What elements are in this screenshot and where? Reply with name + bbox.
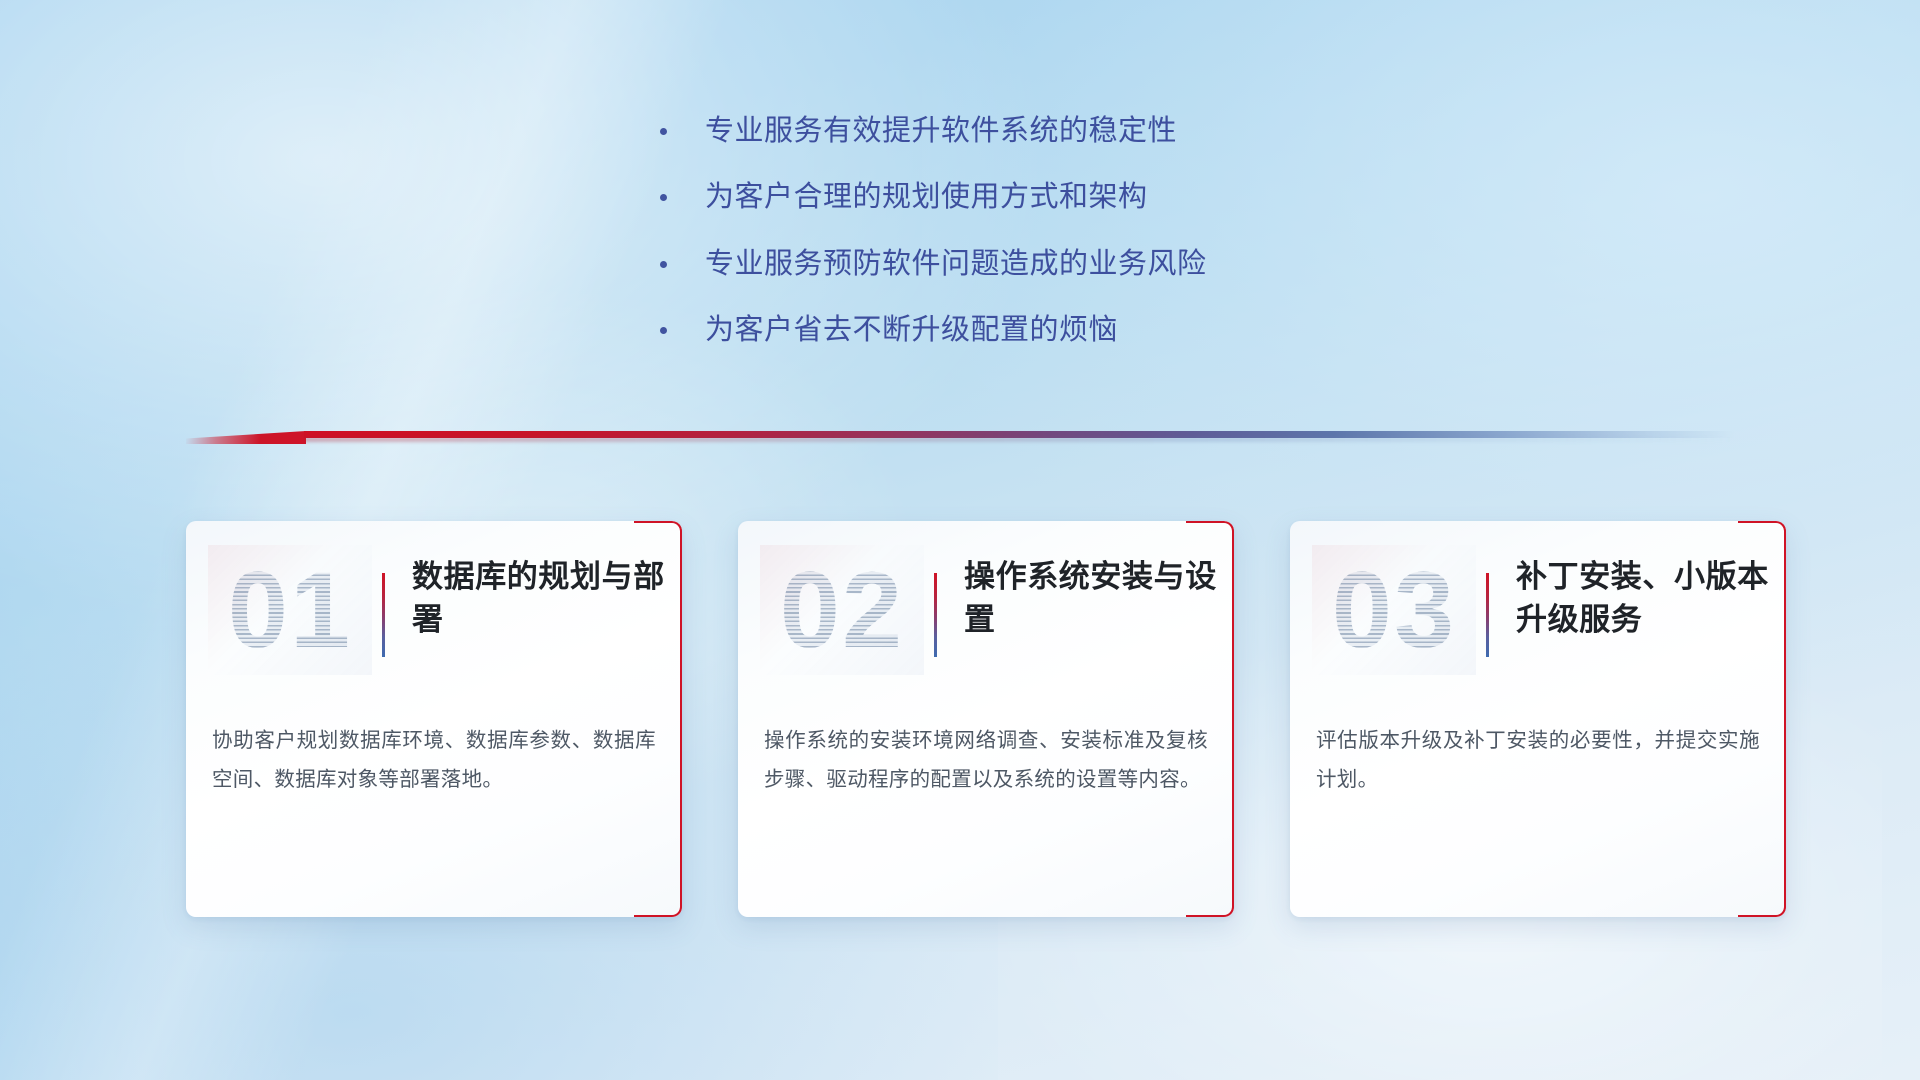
bullet-text: 为客户合理的规划使用方式和架构 <box>705 178 1148 216</box>
bullet-dot-icon <box>660 128 667 135</box>
section-divider <box>186 431 1734 444</box>
bullet-item: 为客户合理的规划使用方式和架构 <box>660 178 1207 216</box>
bullet-text: 为客户省去不断升级配置的烦恼 <box>705 311 1118 349</box>
divider-red-tip <box>186 431 306 444</box>
card-title-divider-rule <box>934 573 937 657</box>
service-card[interactable]: 02 02 操作系统安装与设置 操作系统的安装环境网络调查、安装标准及复核步骤、… <box>738 521 1234 917</box>
service-card[interactable]: 01 01 数据库的规划与部署 协助客户规划数据库环境、数据库参数、数据库空间、… <box>186 521 682 917</box>
card-title: 数据库的规划与部署 <box>412 555 668 642</box>
card-title-divider-rule <box>382 573 385 657</box>
service-card-list: 01 01 数据库的规划与部署 协助客户规划数据库环境、数据库参数、数据库空间、… <box>186 521 1786 917</box>
bullet-item: 为客户省去不断升级配置的烦恼 <box>660 311 1207 349</box>
card-body-text: 操作系统的安装环境网络调查、安装标准及复核步骤、驱动程序的配置以及系统的设置等内… <box>764 721 1208 800</box>
card-number-watermark: 03 <box>1312 545 1476 675</box>
bullet-dot-icon <box>660 194 667 201</box>
card-number-watermark: 02 <box>760 545 924 675</box>
divider-glow <box>304 437 1734 442</box>
service-card[interactable]: 03 03 补丁安装、小版本升级服务 评估版本升级及补丁安装的必要性，并提交实施… <box>1290 521 1786 917</box>
bullet-dot-icon <box>660 261 667 268</box>
benefits-bullet-list: 专业服务有效提升软件系统的稳定性 为客户合理的规划使用方式和架构 专业服务预防软… <box>660 112 1207 377</box>
bullet-item: 专业服务有效提升软件系统的稳定性 <box>660 112 1207 150</box>
card-header: 02 02 操作系统安装与设置 <box>738 521 1234 711</box>
bullet-text: 专业服务有效提升软件系统的稳定性 <box>705 112 1177 150</box>
card-title: 操作系统安装与设置 <box>964 555 1220 642</box>
bullet-dot-icon <box>660 327 667 334</box>
card-header: 01 01 数据库的规划与部署 <box>186 521 682 711</box>
card-body-text: 评估版本升级及补丁安装的必要性，并提交实施计划。 <box>1316 721 1760 800</box>
card-number-watermark: 01 <box>208 545 372 675</box>
bullet-item: 专业服务预防软件问题造成的业务风险 <box>660 245 1207 283</box>
card-title-divider-rule <box>1486 573 1489 657</box>
card-header: 03 03 补丁安装、小版本升级服务 <box>1290 521 1786 711</box>
bullet-text: 专业服务预防软件问题造成的业务风险 <box>705 245 1207 283</box>
card-title: 补丁安装、小版本升级服务 <box>1516 555 1772 642</box>
card-body-text: 协助客户规划数据库环境、数据库参数、数据库空间、数据库对象等部署落地。 <box>212 721 656 800</box>
